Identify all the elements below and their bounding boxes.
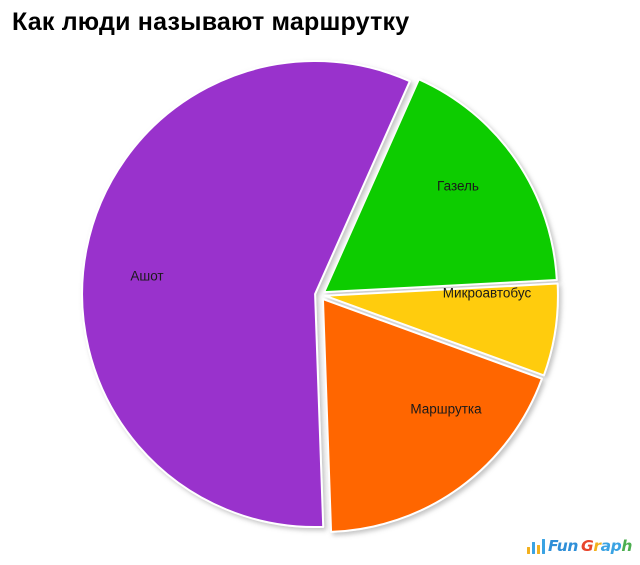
pie-slice-label: Ашот bbox=[130, 269, 163, 284]
fungraph-logo: Fun Graph bbox=[527, 534, 632, 558]
pie-chart: ГазельМикроавтобусМаршруткаАшот bbox=[0, 40, 640, 540]
pie-slice-label: Микроавтобус bbox=[443, 286, 532, 301]
pie-chart-svg: ГазельМикроавтобусМаршруткаАшот bbox=[0, 40, 640, 540]
page-title: Как люди называют маршрутку bbox=[12, 8, 409, 37]
pie-slice-label: Маршрутка bbox=[410, 402, 482, 417]
logo-text-graph: Graph bbox=[581, 537, 632, 555]
logo-text-fun: Fun bbox=[548, 537, 578, 555]
bar-chart-icon bbox=[527, 539, 546, 554]
pie-slice-label: Газель bbox=[437, 179, 479, 194]
